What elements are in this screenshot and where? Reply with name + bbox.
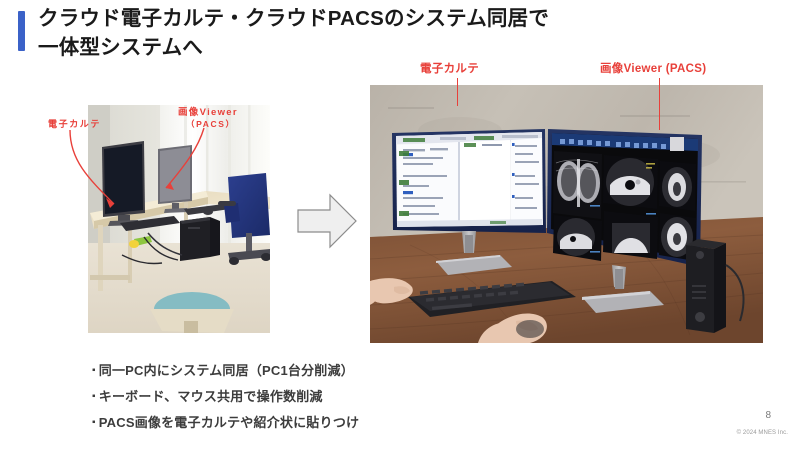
title-accent-bar	[18, 11, 25, 51]
list-item: ▪PACS画像を電子カルテや紹介状に貼りつけ	[92, 416, 512, 429]
benefit-bullet-list: ▪同一PC内にシステム同居（PC1台分削減） ▪キーボード、マウス共用で操作数削…	[92, 364, 512, 442]
leader-line-pacs-right	[659, 78, 660, 130]
list-item: ▪同一PC内にシステム同居（PC1台分削減）	[92, 364, 512, 377]
callout-label-emr-right: 電子カルテ	[420, 60, 479, 76]
list-item: ▪キーボード、マウス共用で操作数削減	[92, 390, 512, 403]
callout-label-pacs-right: 画像Viewer (PACS)	[600, 60, 706, 76]
integrated-desk-after-photo	[370, 85, 763, 343]
right-arrow-icon	[294, 190, 360, 252]
list-item-label: 同一PC内にシステム同居（PC1台分削減）	[99, 363, 354, 378]
left-photo-leader-lines	[40, 100, 280, 230]
list-item-label: PACS画像を電子カルテや紹介状に貼りつけ	[99, 415, 359, 430]
leader-line-emr-right	[457, 78, 458, 106]
page-title: クラウド電子カルテ・クラウドPACSのシステム同居で 一体型システムへ	[38, 4, 768, 62]
bullet-marker: ▪	[92, 417, 96, 428]
page-number: 8	[765, 410, 771, 421]
bullet-marker: ▪	[92, 391, 96, 402]
copyright-notice: © 2024 MNES Inc.	[737, 430, 788, 436]
list-item-label: キーボード、マウス共用で操作数削減	[99, 389, 323, 404]
integrated-desk-illustration	[370, 85, 763, 343]
slide-canvas: クラウド電子カルテ・クラウドPACSのシステム同居で 一体型システムへ	[0, 0, 798, 449]
bullet-marker: ▪	[92, 365, 96, 376]
